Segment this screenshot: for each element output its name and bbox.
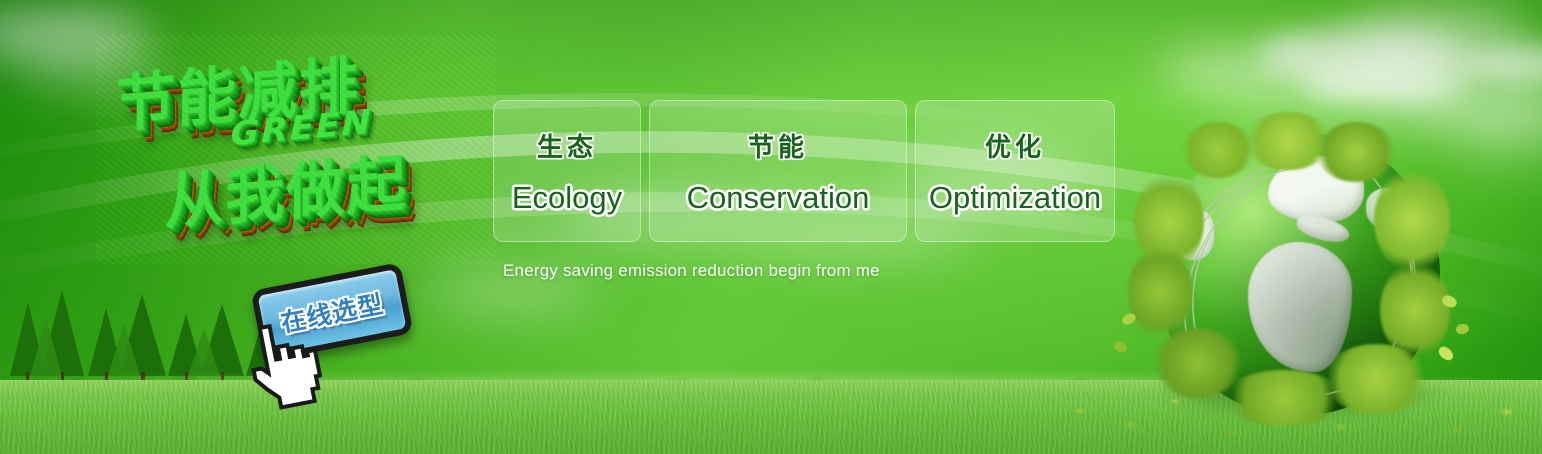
leaf-cluster — [1374, 168, 1450, 272]
feature-cards: 生态 Ecology 节能 Conservation 优化 Optimizati… — [493, 100, 1115, 242]
feature-card-cn-label: 优化 — [985, 127, 1045, 164]
headline-line2: 从我做起 — [164, 132, 407, 241]
green-globe-with-vines-icon — [1148, 128, 1448, 428]
leaf-cluster — [1316, 122, 1396, 182]
feature-card-en-label: Conservation — [687, 180, 870, 216]
feature-card-en-label: Optimization — [929, 180, 1101, 216]
feature-card-optimization[interactable]: 优化 Optimization — [915, 100, 1115, 242]
leaf-cluster — [1128, 246, 1192, 338]
leaf-cluster — [1380, 262, 1450, 358]
leaf-cluster — [1224, 370, 1344, 426]
promo-banner: 节能减排 从我做起 GREEN 在线选型 生态 Ecology 节能 Conse… — [0, 0, 1542, 454]
feature-card-en-label: Ecology — [512, 180, 622, 216]
headline-artwork: 节能减排 从我做起 GREEN — [96, 34, 496, 264]
feature-card-cn-label: 节能 — [748, 127, 808, 164]
tagline: Energy saving emission reduction begin f… — [503, 261, 880, 281]
feature-card-ecology[interactable]: 生态 Ecology — [493, 100, 641, 242]
feature-card-cn-label: 生态 — [537, 127, 597, 164]
leaf-cluster — [1182, 122, 1254, 178]
feature-card-conservation[interactable]: 节能 Conservation — [649, 100, 907, 242]
